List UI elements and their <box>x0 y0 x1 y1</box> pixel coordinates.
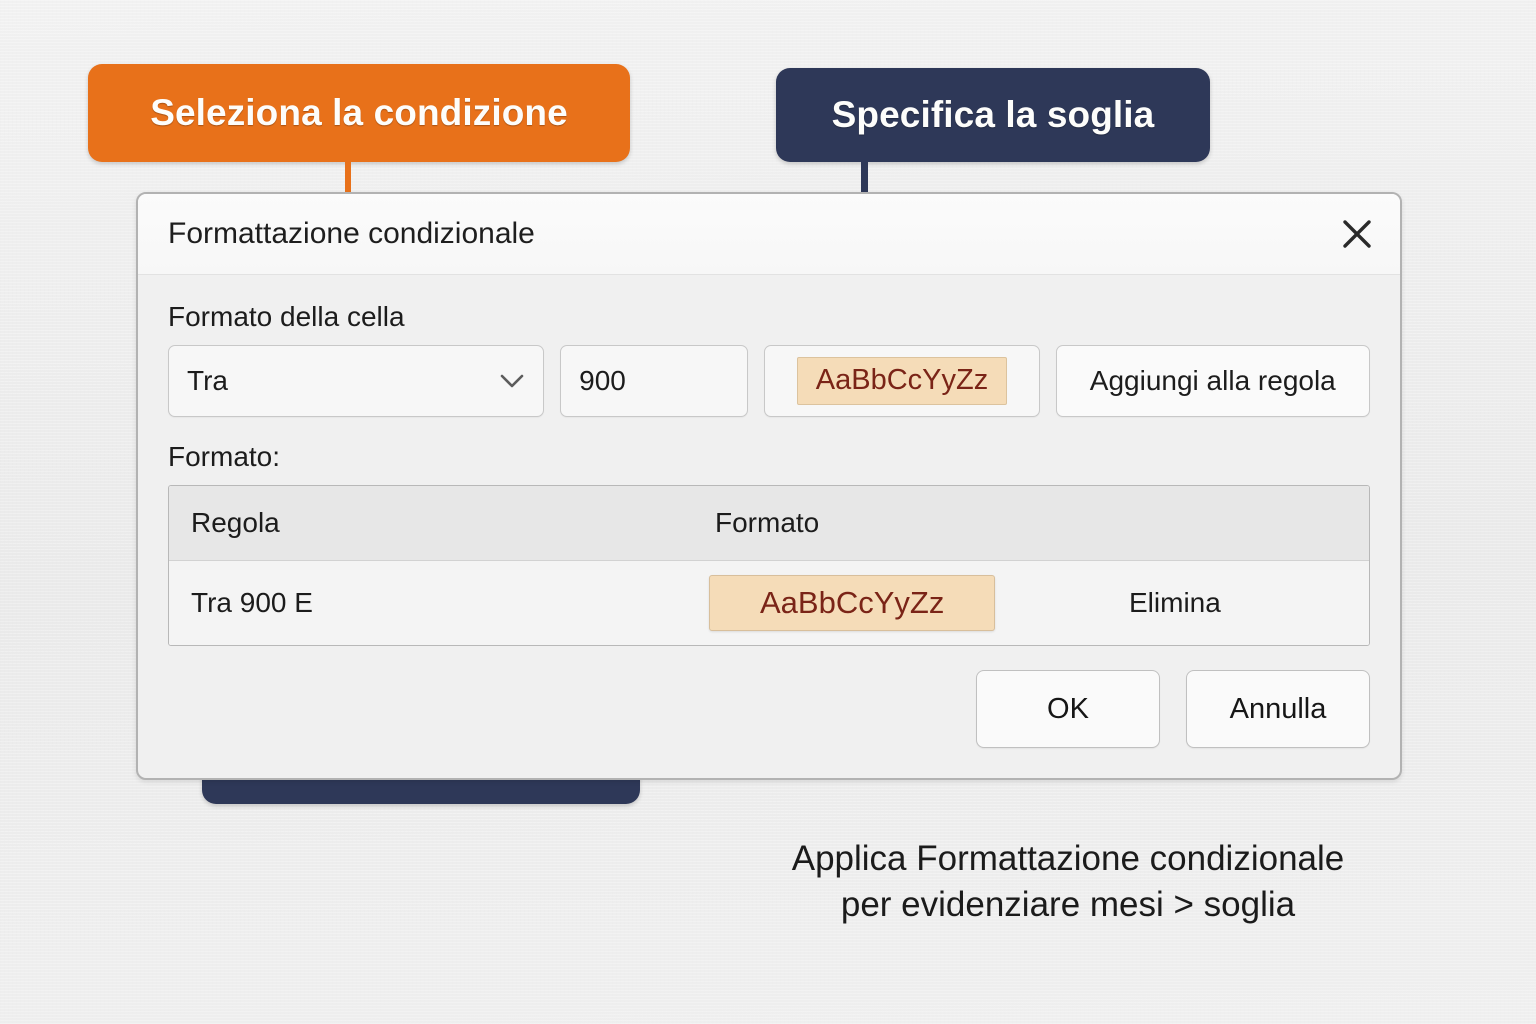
column-header-rule: Regola <box>191 507 280 538</box>
format-preview-sample: AaBbCcYyZz <box>797 357 1007 404</box>
delete-rule-link[interactable]: Elimina <box>1129 587 1221 619</box>
dialog-body: Formato della cella Tra 900 AaBbCcYyZz A… <box>138 275 1400 646</box>
caption-line-1: Applica Formattazione condizionale <box>704 836 1432 882</box>
cell-format-label: Formato della cella <box>168 301 1370 333</box>
rules-table-header: Regola Formato <box>169 486 1369 561</box>
rule-format-swatch[interactable]: AaBbCcYyZz <box>709 575 995 631</box>
chevron-down-icon <box>499 373 525 389</box>
dialog-title: Formattazione condizionale <box>168 217 535 251</box>
column-header-format: Formato <box>715 507 819 539</box>
condition-select-value: Tra <box>187 365 228 397</box>
caption: Applica Formattazione condizionale per e… <box>704 836 1432 927</box>
threshold-input[interactable]: 900 <box>560 345 748 417</box>
callout-specify-threshold: Specifica la soglia <box>776 68 1210 162</box>
callout-select-condition: Seleziona la condizione <box>88 64 630 162</box>
connector-select-condition <box>345 150 351 196</box>
add-rule-button[interactable]: Aggiungi alla regola <box>1056 345 1370 417</box>
rule-cell-text: Tra 900 E <box>191 587 313 618</box>
condition-select[interactable]: Tra <box>168 345 544 417</box>
conditional-formatting-dialog: Formattazione condizionale Formato della… <box>136 192 1402 780</box>
cancel-button[interactable]: Annulla <box>1186 670 1370 748</box>
close-icon[interactable] <box>1334 211 1380 257</box>
format-section-label: Formato: <box>168 441 1370 473</box>
table-row[interactable]: Tra 900 E AaBbCcYyZz Elimina <box>169 561 1369 645</box>
threshold-input-value: 900 <box>579 365 626 397</box>
dialog-titlebar: Formattazione condizionale <box>138 194 1400 275</box>
rules-table: Regola Formato Tra 900 E AaBbCcYyZz Elim… <box>168 485 1370 646</box>
caption-line-2: per evidenziare mesi > soglia <box>704 882 1432 928</box>
dialog-footer: OK Annulla <box>138 646 1400 748</box>
format-preview-button[interactable]: AaBbCcYyZz <box>764 345 1039 417</box>
ok-button[interactable]: OK <box>976 670 1160 748</box>
condition-control-row: Tra 900 AaBbCcYyZz Aggiungi alla regola <box>168 345 1370 417</box>
